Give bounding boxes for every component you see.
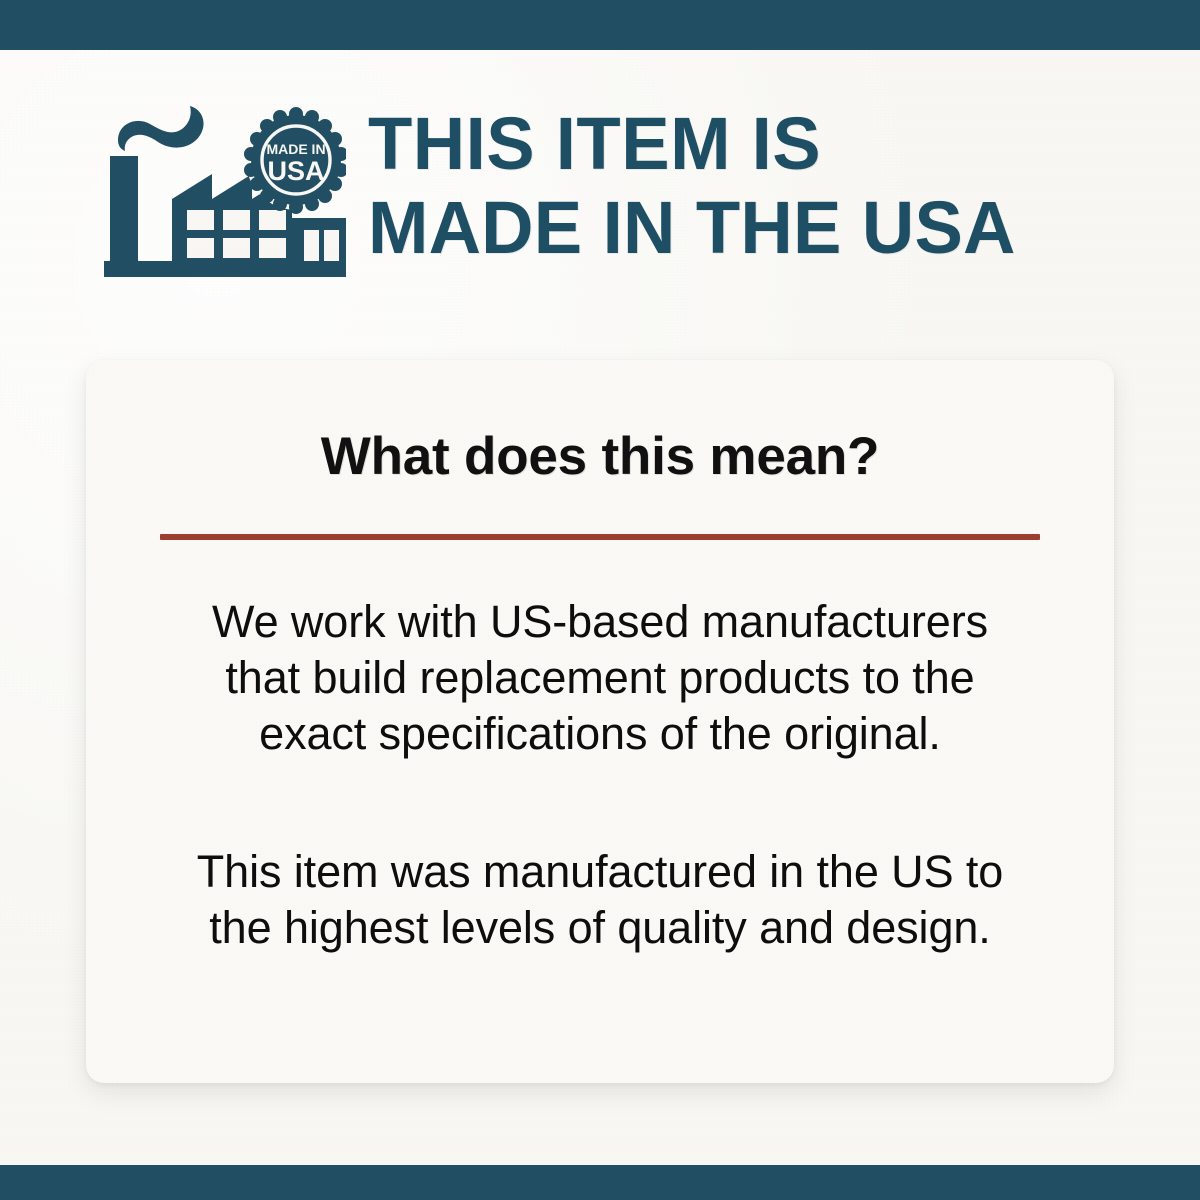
paragraph-1-line-1: We work with US-based manufacturers: [148, 594, 1052, 650]
paragraph-1-line-2: that build replacement products to the: [148, 650, 1052, 706]
title-line-2: MADE IN THE USA: [368, 186, 1125, 270]
paragraph-2-line-1: This item was manufactured in the US to: [148, 844, 1052, 900]
header: MADE IN USA THIS ITEM IS MADE IN THE USA: [100, 96, 1140, 296]
explanation-card: What does this mean? We work with US-bas…: [86, 360, 1114, 1083]
paragraph-1-line-3: exact specifications of the original.: [148, 706, 1052, 762]
badge-line-1: MADE IN: [266, 141, 325, 157]
bottom-accent-band: [0, 1165, 1200, 1200]
card-heading: What does this mean?: [86, 360, 1114, 486]
page-root: MADE IN USA THIS ITEM IS MADE IN THE USA…: [0, 0, 1200, 1200]
card-divider: [160, 534, 1040, 540]
made-in-usa-logo: MADE IN USA: [100, 96, 346, 286]
page-title: THIS ITEM IS MADE IN THE USA: [368, 96, 1140, 270]
paragraph-1: We work with US-based manufacturers that…: [86, 594, 1114, 762]
title-line-1: THIS ITEM IS: [368, 102, 1125, 186]
top-accent-band: [0, 0, 1200, 50]
paragraph-2-line-2: the highest levels of quality and design…: [148, 900, 1052, 956]
badge-line-2: USA: [267, 156, 324, 186]
factory-icon: MADE IN USA: [100, 96, 346, 286]
paragraph-2: This item was manufactured in the US to …: [86, 844, 1114, 956]
